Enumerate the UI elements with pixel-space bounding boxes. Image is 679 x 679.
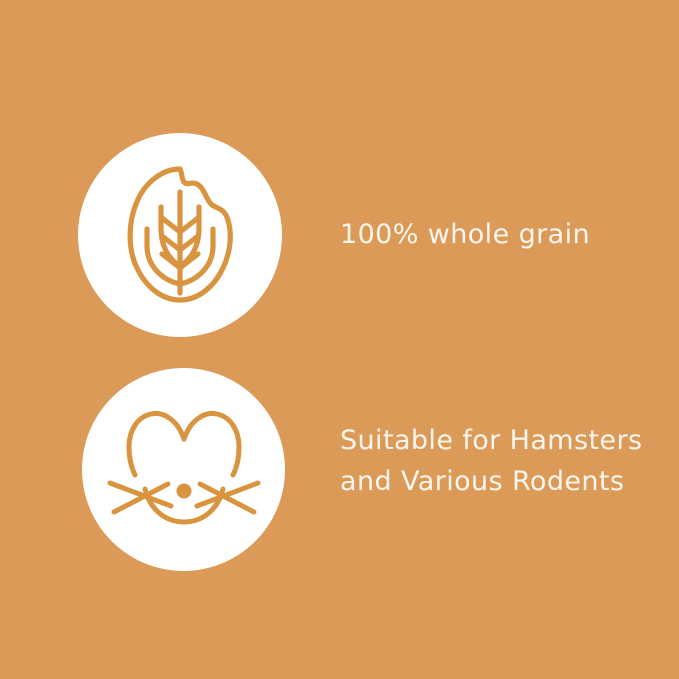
- feature-row-whole-grain: 100% whole grain: [0, 133, 679, 337]
- rodents-label: Suitable for Hamsters and Various Rodent…: [340, 420, 679, 502]
- hamster-face-badge: [82, 368, 285, 571]
- rodents-label-line-1: Suitable for Hamsters: [340, 420, 679, 461]
- feature-row-rodents: Suitable for Hamsters and Various Rodent…: [0, 368, 679, 571]
- hamster-face-icon: [104, 405, 264, 535]
- whole-grain-label-line-1: 100% whole grain: [340, 217, 670, 253]
- whole-grain-label: 100% whole grain: [340, 217, 670, 253]
- whole-grain-badge: [78, 133, 282, 337]
- whole-grain-icon: [110, 160, 250, 310]
- rodents-label-line-2: and Various Rodents: [340, 461, 679, 502]
- feature-panel: 100% whole grain: [0, 0, 679, 679]
